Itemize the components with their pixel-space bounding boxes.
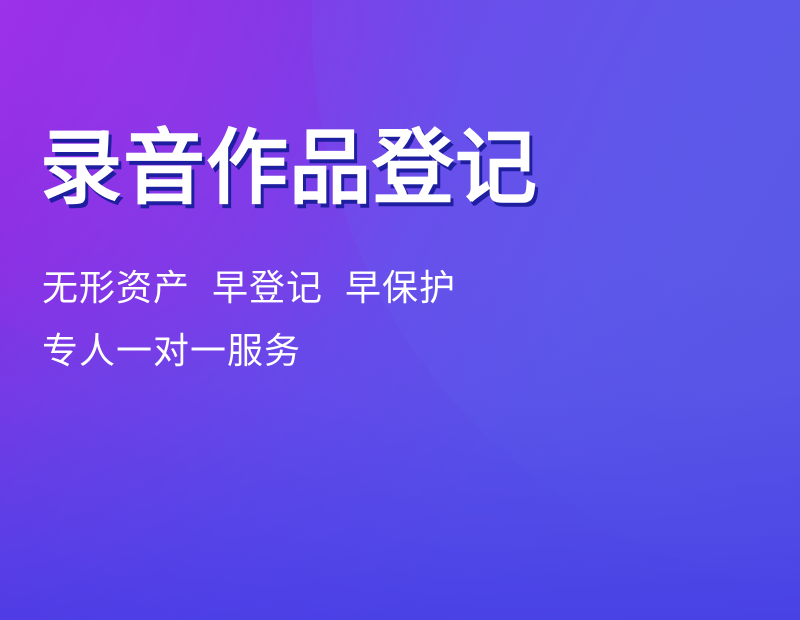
banner-headline: 录音作品登记 — [40, 128, 538, 210]
banner-content: 录音作品登记 无形资产 早登记 早保护 专人一对一服务 — [0, 0, 800, 620]
banner-subtitle-line-2: 专人一对一服务 — [42, 333, 301, 369]
promo-banner: 录音作品登记 无形资产 早登记 早保护 专人一对一服务 — [0, 0, 800, 620]
banner-subtitle-line-1: 无形资产 早登记 早保护 — [42, 270, 456, 306]
